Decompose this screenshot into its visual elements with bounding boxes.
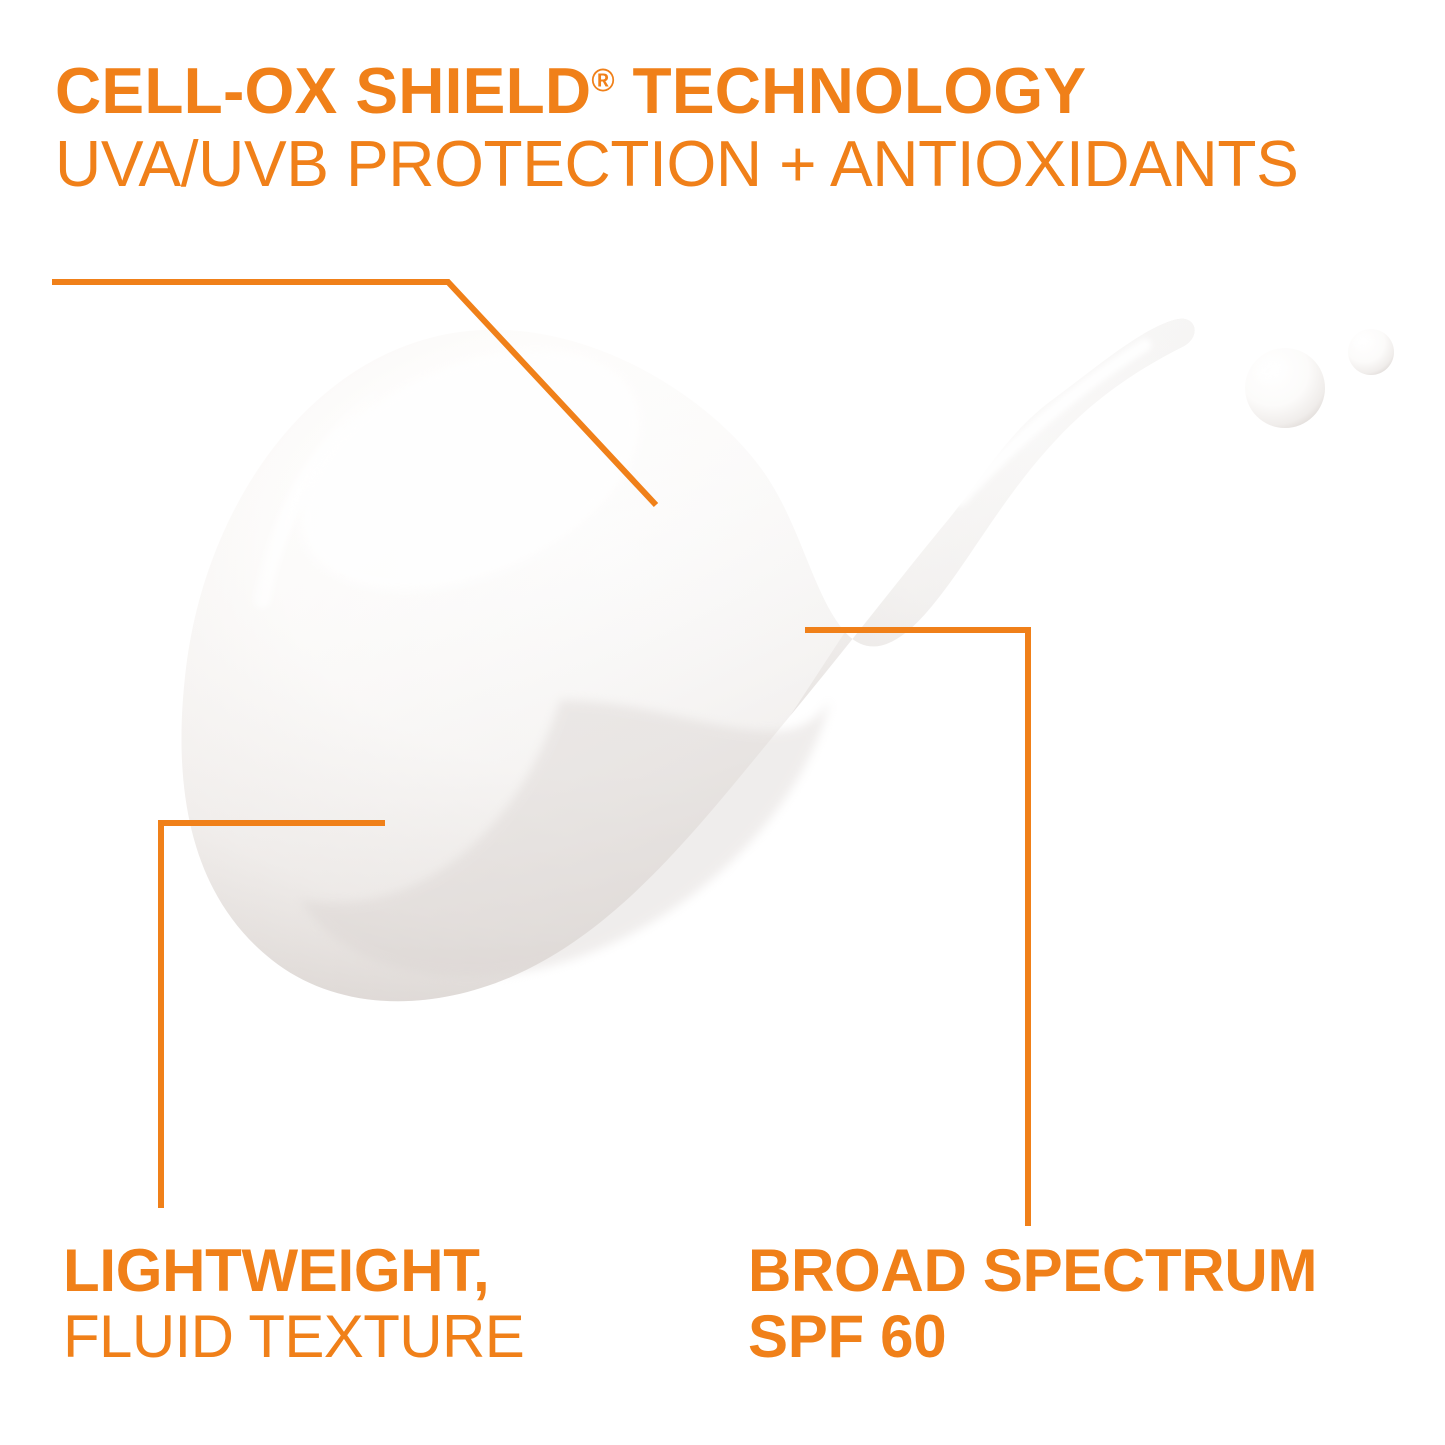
caption-broad-spectrum: BROAD SPECTRUM SPF 60 — [748, 1238, 1317, 1370]
caption-spf-value: SPF 60 — [748, 1304, 1317, 1370]
technology-title-text: CELL-OX SHIELD — [55, 54, 591, 127]
protection-subtitle: UVA/UVB PROTECTION + ANTIOXIDANTS — [55, 127, 1375, 201]
caption-lightweight-strong: LIGHTWEIGHT, — [63, 1238, 524, 1304]
product-benefit-infographic: CELL-OX SHIELD® TECHNOLOGY UVA/UVB PROTE… — [0, 0, 1445, 1445]
caption-lightweight: LIGHTWEIGHT, FLUID TEXTURE — [63, 1238, 524, 1370]
droplet-small — [1348, 329, 1394, 375]
header-block: CELL-OX SHIELD® TECHNOLOGY UVA/UVB PROTE… — [55, 44, 1395, 201]
caption-broad-spectrum-strong: BROAD SPECTRUM — [748, 1238, 1317, 1304]
cream-body — [181, 301, 1194, 1001]
technology-title-suffix: TECHNOLOGY — [615, 54, 1087, 127]
registered-trademark-icon: ® — [591, 62, 614, 98]
droplet-large — [1245, 348, 1325, 428]
caption-lightweight-light: FLUID TEXTURE — [63, 1304, 524, 1370]
leader-line-spf — [805, 630, 1028, 1226]
technology-title: CELL-OX SHIELD® TECHNOLOGY — [55, 44, 1375, 127]
cream-droplets — [1245, 329, 1394, 428]
cream-swatch-illustration — [0, 0, 1445, 1445]
